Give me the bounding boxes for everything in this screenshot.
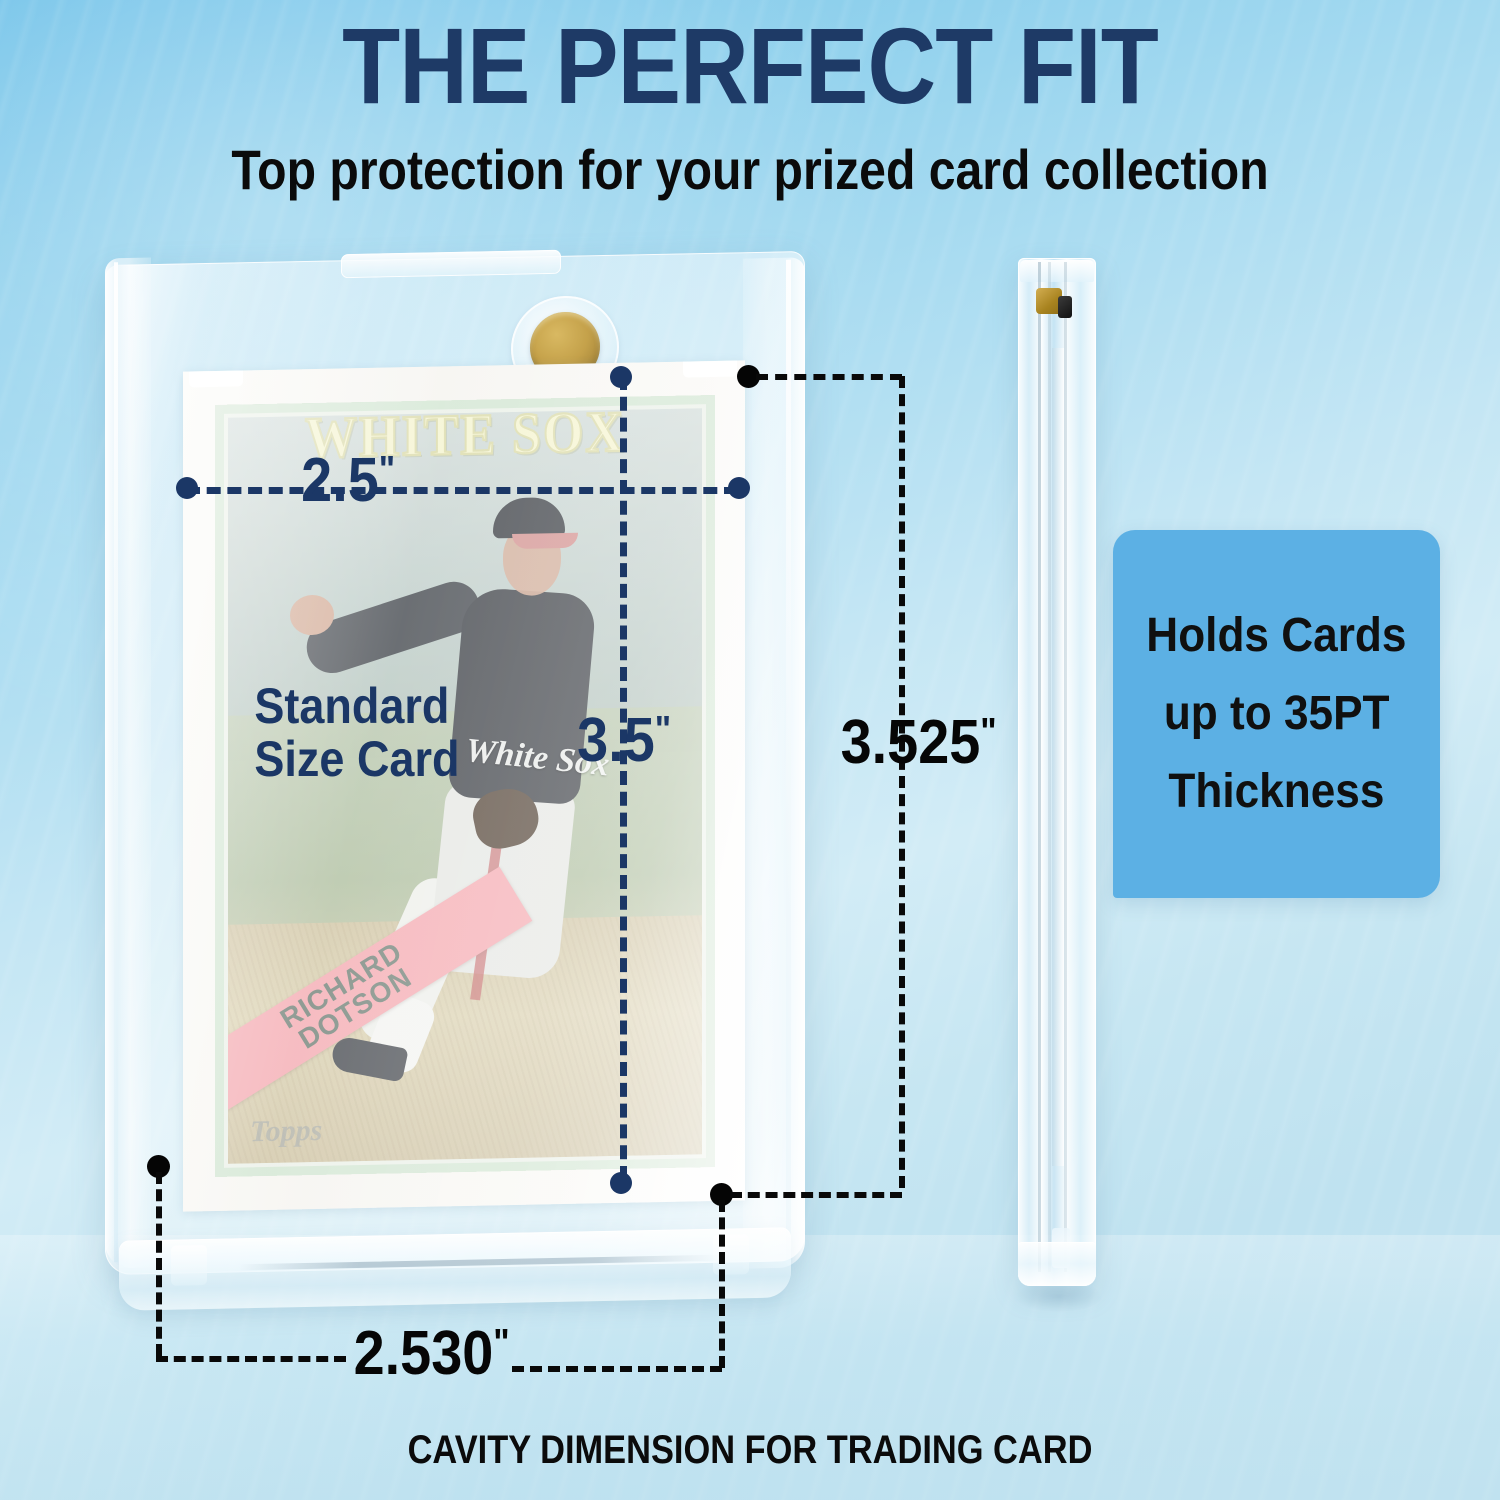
page-subtitle: Top protection for your prized card coll… (105, 142, 1395, 198)
side-edge-line-a (1038, 262, 1041, 1272)
side-foot (1018, 1242, 1096, 1286)
holder-right-edge (743, 257, 805, 1268)
page-title: THE PERFECT FIT (90, 12, 1410, 120)
holder-base-tab-left (171, 1245, 207, 1286)
side-edge-line-b (1048, 262, 1051, 1272)
callout-line-2: up to 35PT (1164, 690, 1390, 738)
side-cavity-gap (1052, 348, 1064, 1166)
side-top-cap (1020, 260, 1094, 282)
card-photo: White Sox RICHARD DOTSON Topps (228, 408, 702, 1164)
holder-left-edge (105, 258, 151, 1269)
card-brand-logo: Topps (250, 1114, 322, 1149)
infographic-stage: THE PERFECT FIT Top protection for your … (0, 0, 1500, 1500)
holder-base (119, 1227, 791, 1310)
card-mat: White Sox RICHARD DOTSON Topps WHITE SOX (183, 360, 745, 1211)
footer-caption: CAVITY DIMENSION FOR TRADING CARD (105, 1428, 1395, 1473)
callout-line-1: Holds Cards (1146, 612, 1406, 660)
card-holder-front-view: White Sox RICHARD DOTSON Topps WHITE SOX (105, 258, 805, 1268)
header: THE PERFECT FIT Top protection for your … (0, 12, 1500, 198)
side-view-shadow (1016, 1286, 1102, 1312)
card-team-name: WHITE SOX (215, 397, 715, 473)
mat-notch-right (683, 360, 737, 377)
side-edge-line-c (1064, 262, 1067, 1272)
thickness-callout-box: Holds Cards up to 35PT Thickness (1113, 530, 1440, 898)
player-hand (290, 595, 334, 636)
callout-line-3: Thickness (1169, 768, 1385, 816)
card-holder-side-view (1018, 258, 1096, 1286)
side-magnet-secondary-icon (1058, 296, 1072, 318)
mat-notch-left (189, 368, 243, 387)
holder-top-lip (341, 250, 561, 278)
trading-card-artwork: White Sox RICHARD DOTSON Topps WHITE SOX (215, 395, 715, 1177)
holder-base-tab-right (713, 1234, 749, 1275)
